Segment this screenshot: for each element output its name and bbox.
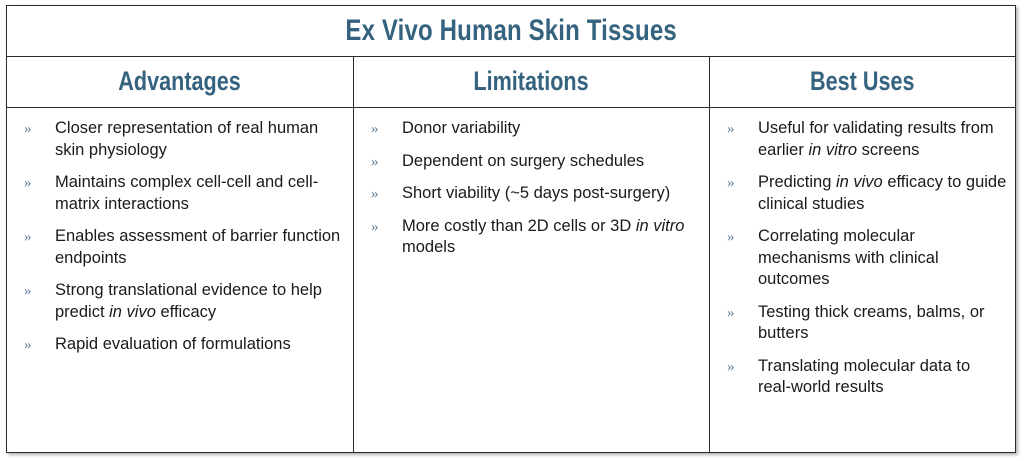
list-item-label: Strong translational evidence to help pr…	[55, 281, 322, 321]
list-item-label: Correlating molecular mechanisms with cl…	[758, 227, 939, 288]
list-item-label: Predicting in vivo efficacy to guide cli…	[758, 173, 1006, 213]
comparison-table: Ex Vivo Human Skin Tissues Advantages Li…	[6, 5, 1016, 453]
column-header-label: Advantages	[119, 68, 241, 95]
list-item: »Enables assessment of barrier function …	[15, 226, 345, 269]
column-header-label: Best Uses	[810, 68, 914, 95]
list-item-label: Donor variability	[402, 119, 520, 137]
bullet-icon: »	[24, 227, 32, 249]
bullet-icon: »	[24, 119, 32, 141]
list-item: »Closer representation of real human ski…	[15, 118, 345, 161]
bullet-icon: »	[727, 119, 735, 141]
column-body-best-uses: »Useful for validating results from earl…	[709, 107, 1015, 452]
bullet-list: »Closer representation of real human ski…	[15, 118, 345, 356]
bullet-icon: »	[371, 152, 379, 174]
list-item: »Correlating molecular mechanisms with c…	[718, 226, 1007, 291]
list-item-label: Rapid evaluation of formulations	[55, 335, 291, 353]
bullet-icon: »	[727, 173, 735, 195]
list-item: »More costly than 2D cells or 3D in vitr…	[362, 216, 701, 259]
bullet-icon: »	[727, 303, 735, 325]
column-header-limitations: Limitations	[353, 56, 709, 107]
list-item-label: Testing thick creams, balms, or butters	[758, 303, 985, 343]
bullet-icon: »	[24, 173, 32, 195]
list-item: »Dependent on surgery schedules	[362, 151, 701, 173]
bullet-icon: »	[371, 217, 379, 239]
bullet-icon: »	[727, 357, 735, 379]
list-item: »Useful for validating results from earl…	[718, 118, 1007, 161]
list-item-label: More costly than 2D cells or 3D in vitro…	[402, 217, 684, 257]
list-item: »Donor variability	[362, 118, 701, 140]
column-header-label: Limitations	[474, 68, 589, 95]
list-item-label: Short viability (~5 days post-surgery)	[402, 184, 670, 202]
bullet-icon: »	[371, 119, 379, 141]
list-item: »Rapid evaluation of formulations	[15, 334, 345, 356]
table-header-row: Advantages Limitations Best Uses	[7, 56, 1015, 108]
page-title: Ex Vivo Human Skin Tissues	[345, 16, 676, 46]
bullet-icon: »	[24, 335, 32, 357]
bullet-icon: »	[371, 184, 379, 206]
list-item-label: Closer representation of real human skin…	[55, 119, 318, 159]
list-item-label: Enables assessment of barrier function e…	[55, 227, 340, 267]
list-item: »Strong translational evidence to help p…	[15, 280, 345, 323]
column-header-advantages: Advantages	[7, 56, 353, 107]
list-item-label: Maintains complex cell-cell and cell-mat…	[55, 173, 318, 213]
table-title-row: Ex Vivo Human Skin Tissues	[7, 6, 1015, 57]
list-item: »Translating molecular data to real-worl…	[718, 356, 1007, 399]
list-item: »Short viability (~5 days post-surgery)	[362, 183, 701, 205]
list-item-label: Useful for validating results from earli…	[758, 119, 994, 159]
bullet-icon: »	[24, 281, 32, 303]
table-body-row: »Closer representation of real human ski…	[7, 107, 1015, 452]
list-item: »Maintains complex cell-cell and cell-ma…	[15, 172, 345, 215]
bullet-list: »Useful for validating results from earl…	[718, 118, 1007, 399]
list-item: »Testing thick creams, balms, or butters	[718, 302, 1007, 345]
list-item-label: Translating molecular data to real-world…	[758, 357, 970, 397]
column-header-best-uses: Best Uses	[709, 56, 1015, 107]
bullet-list: »Donor variability»Dependent on surgery …	[362, 118, 701, 259]
bullet-icon: »	[727, 227, 735, 249]
column-body-advantages: »Closer representation of real human ski…	[7, 107, 353, 452]
column-body-limitations: »Donor variability»Dependent on surgery …	[353, 107, 709, 452]
list-item-label: Dependent on surgery schedules	[402, 152, 644, 170]
list-item: »Predicting in vivo efficacy to guide cl…	[718, 172, 1007, 215]
